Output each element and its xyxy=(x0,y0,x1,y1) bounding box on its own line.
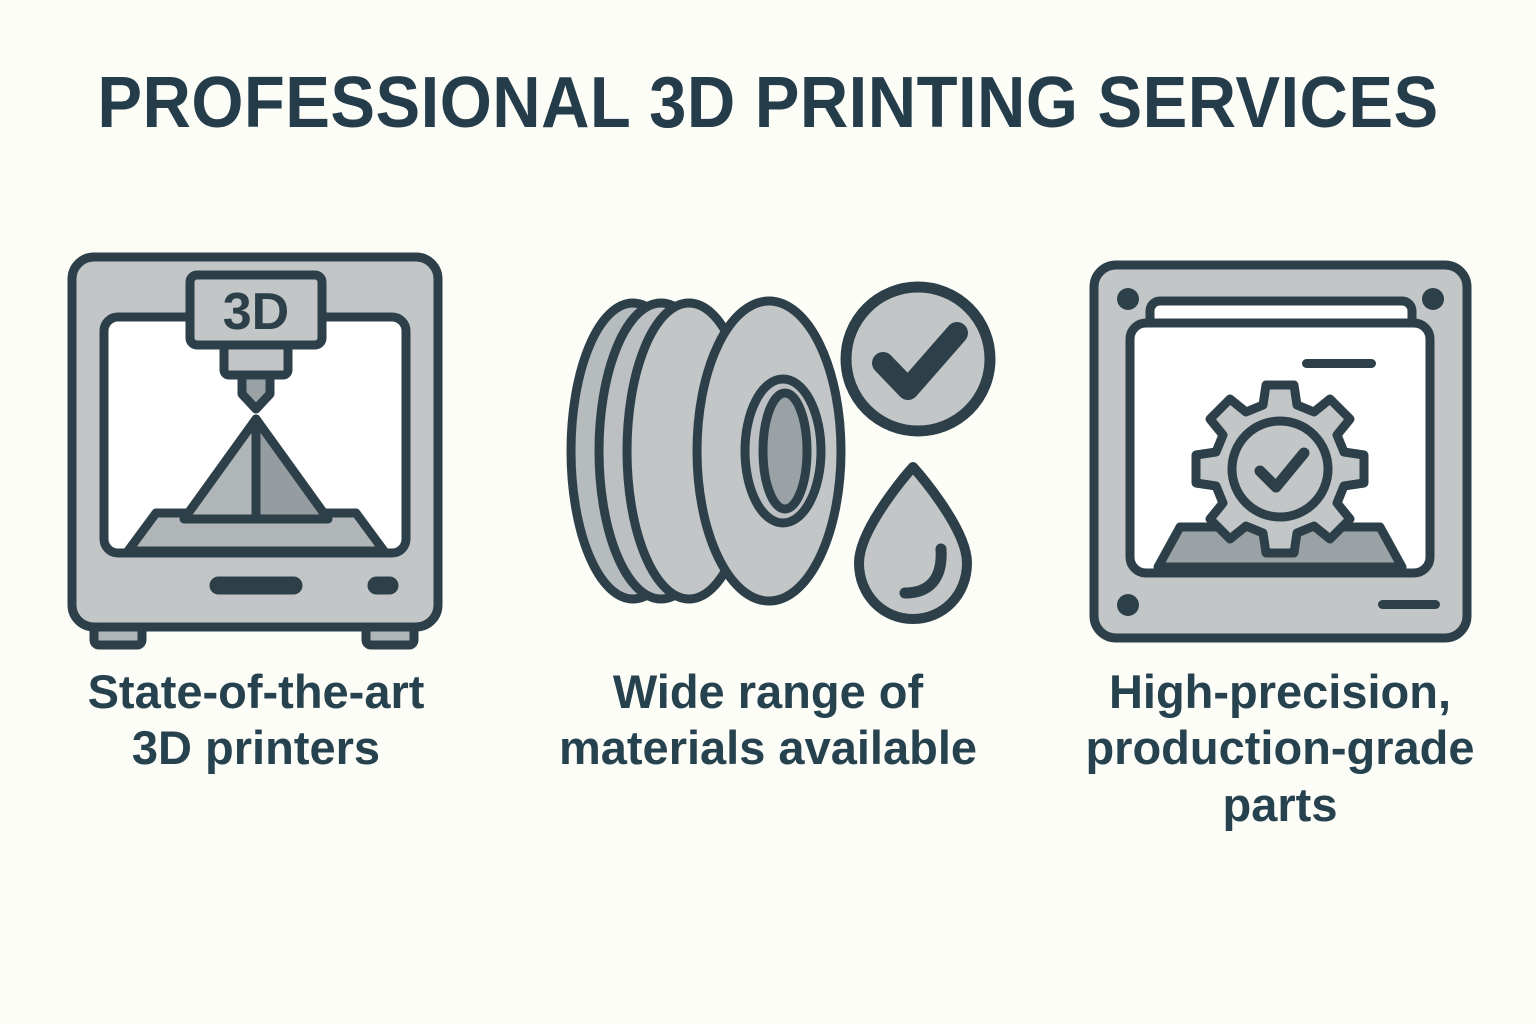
3d-printer-icon: 3D xyxy=(66,251,446,651)
caption-line-2: materials available xyxy=(553,720,983,776)
screw-top-right xyxy=(1422,288,1444,310)
spool-hub-inner xyxy=(763,393,807,509)
feature-caption-precision: High-precision, production-grade parts xyxy=(1055,664,1505,833)
caption-line-1: Wide range of xyxy=(553,664,983,720)
caption-line-3: parts xyxy=(1055,777,1505,833)
caption-line-2: 3D printers xyxy=(41,720,471,776)
3d-printer-icon-wrap: 3D xyxy=(66,246,446,656)
caption-line-2: production-grade xyxy=(1055,720,1505,776)
precision-printer-gear-icon xyxy=(1088,259,1473,644)
control-bar xyxy=(1378,600,1440,609)
gear-inner-circle xyxy=(1232,421,1328,517)
precision-icon-wrap xyxy=(1088,246,1473,656)
feature-column-precision: High-precision, production-grade parts xyxy=(1024,246,1536,833)
infographic-page: PROFESSIONAL 3D PRINTING SERVICES xyxy=(0,0,1536,1024)
check-circle-badge xyxy=(846,287,990,431)
feature-column-materials: Wide range of materials available xyxy=(512,246,1024,777)
page-title: PROFESSIONAL 3D PRINTING SERVICES xyxy=(54,62,1482,144)
filament-spool-icon xyxy=(533,271,1003,631)
feature-columns: 3D State-of-the-art 3D printers xyxy=(0,246,1536,833)
feature-column-printer: 3D State-of-the-art 3D printers xyxy=(0,246,512,777)
screw-top-left xyxy=(1117,288,1139,310)
materials-icon-wrap xyxy=(533,246,1003,656)
print-head-label: 3D xyxy=(223,283,289,341)
screw-bottom-left xyxy=(1117,594,1139,616)
caption-line-1: High-precision, xyxy=(1055,664,1505,720)
feature-caption-materials: Wide range of materials available xyxy=(553,664,983,777)
feature-caption-printer: State-of-the-art 3D printers xyxy=(41,664,471,777)
caption-line-1: State-of-the-art xyxy=(41,664,471,720)
nozzle-rail-mark xyxy=(1302,359,1376,368)
